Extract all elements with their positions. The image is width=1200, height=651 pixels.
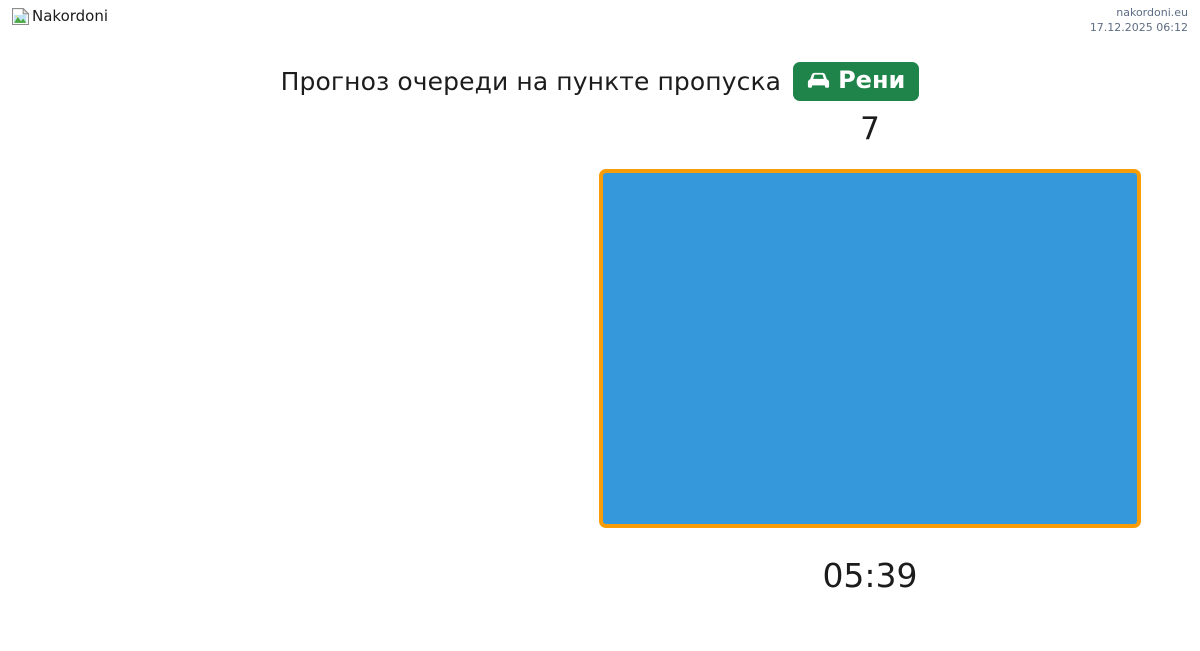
brand-logo: Nakordoni [12,8,108,25]
station-badge-label: Рени [838,68,905,92]
site-domain: nakordoni.eu [1090,5,1188,20]
bar-value-label: 7 [599,108,1141,150]
timestamp: 17.12.2025 06:12 [1090,20,1188,35]
bar-rect[interactable] [599,169,1141,528]
page-title: Прогноз очереди на пункте пропуска [281,67,781,96]
bar-column[interactable] [599,169,1141,528]
broken-image-icon [12,8,29,25]
station-badge[interactable]: Рени [793,62,919,101]
page-meta: nakordoni.eu 17.12.2025 06:12 [1090,5,1188,35]
brand-logo-alt-text: Nakordoni [32,9,108,24]
chart-title-row: Прогноз очереди на пункте пропуска Рени [0,58,1200,104]
car-icon [805,70,832,92]
x-axis-tick-label: 05:39 [599,553,1141,599]
